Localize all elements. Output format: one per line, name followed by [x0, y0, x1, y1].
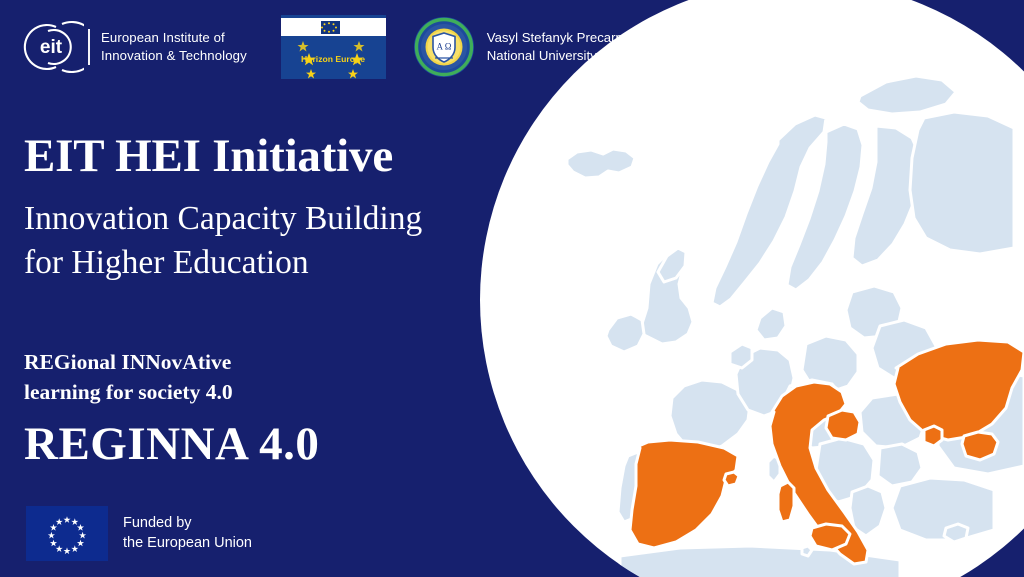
country-baltic-states: [846, 286, 902, 338]
country-romania: [860, 394, 926, 448]
country-united-kingdom: [640, 252, 693, 344]
country-greece: [850, 486, 886, 536]
eit-logo: eit European Institute of Innovation & T…: [18, 20, 247, 74]
university-name-line1: Vasyl Stefanyk Precarpathian: [487, 29, 659, 47]
eit-name-line2: Innovation & Technology: [101, 47, 247, 65]
island-corsica: [768, 456, 780, 482]
country-france: [670, 380, 750, 452]
eu-funding-text: Funded by the European Union: [123, 514, 252, 553]
eit-wordmark: eit: [40, 37, 63, 58]
country-spain-highlight: [630, 440, 738, 548]
country-ireland: [606, 314, 644, 352]
horizon-europe-label: Horizon Europe: [301, 54, 365, 64]
country-austria-hungary: [794, 406, 858, 448]
eu-flag-icon: [26, 506, 108, 561]
horizon-eu-badge: [321, 21, 340, 34]
island-balearics-highlight: [724, 472, 739, 486]
eit-logo-divider: [88, 29, 90, 65]
eit-name-line1: European Institute of: [101, 29, 247, 47]
base-landmasses: [567, 76, 1024, 577]
island-cyprus: [944, 524, 968, 542]
subtitle-line2: for Higher Education: [24, 241, 494, 285]
island-sardinia-highlight: [778, 482, 794, 522]
country-denmark: [756, 308, 786, 340]
university-logo-block: A Ω Vasyl Stefanyk Precarpathian Nationa…: [413, 16, 659, 78]
island-sicily-highlight: [810, 524, 850, 550]
eu-funding-line2: the European Union: [123, 534, 252, 553]
highlighted-countries: [630, 340, 1024, 564]
main-content: EIT HEI Initiative Innovation Capacity B…: [24, 132, 494, 469]
country-portugal: [618, 452, 646, 522]
eit-logo-name: European Institute of Innovation & Techn…: [101, 29, 247, 64]
partner-logo-strip: eit European Institute of Innovation & T…: [18, 18, 659, 76]
country-netherlands: [730, 344, 752, 368]
island-malta: [802, 546, 812, 556]
country-arctic-fringe: [858, 76, 956, 114]
page-subtitle: Innovation Capacity Building for Higher …: [24, 197, 494, 285]
country-belarus: [872, 320, 936, 378]
project-acronym: REGINNA 4.0: [24, 420, 494, 469]
country-russia-south: [938, 370, 1024, 474]
page-title: EIT HEI Initiative: [24, 132, 494, 181]
country-czechia-slovakia: [784, 380, 842, 420]
country-scotland-tip: [658, 248, 686, 282]
country-balkans: [816, 438, 874, 502]
country-turkey: [892, 478, 994, 540]
country-norway: [712, 115, 826, 307]
university-seal-icon: A Ω: [413, 16, 475, 78]
country-bulgaria: [878, 444, 922, 486]
poster-canvas: eit European Institute of Innovation & T…: [0, 0, 1024, 577]
country-slovenia-highlight: [826, 410, 860, 440]
university-seal-letters: A Ω: [436, 42, 451, 52]
subtitle-line1: Innovation Capacity Building: [24, 197, 494, 241]
horizon-europe-flag: Horizon Europe: [281, 15, 386, 79]
country-north-africa: [620, 546, 900, 577]
eit-ring-icon: eit: [18, 20, 84, 74]
university-name: Vasyl Stefanyk Precarpathian National Un…: [487, 29, 659, 64]
country-sweden: [787, 124, 863, 290]
country-poland: [802, 336, 858, 392]
country-ukraine-highlight: [894, 340, 1024, 440]
region-crimea-highlight: [962, 432, 998, 460]
region-ukraine-southwest-highlight: [924, 426, 942, 446]
tagline-line2: learning for society 4.0: [24, 377, 494, 408]
eu-funding-logo: Funded by the European Union: [26, 506, 252, 561]
country-russia-northwest: [910, 112, 1014, 254]
tagline-line1: REGional INNovAtive: [24, 347, 494, 378]
globe-disc: [480, 0, 1024, 577]
project-tagline: REGional INNovAtive learning for society…: [24, 347, 494, 408]
country-germany: [736, 348, 794, 416]
country-finland: [852, 126, 920, 266]
country-iceland: [567, 149, 635, 178]
country-italy-highlight: [770, 382, 868, 564]
university-name-line2: National University: [487, 47, 659, 65]
eu-funding-line1: Funded by: [123, 514, 252, 533]
